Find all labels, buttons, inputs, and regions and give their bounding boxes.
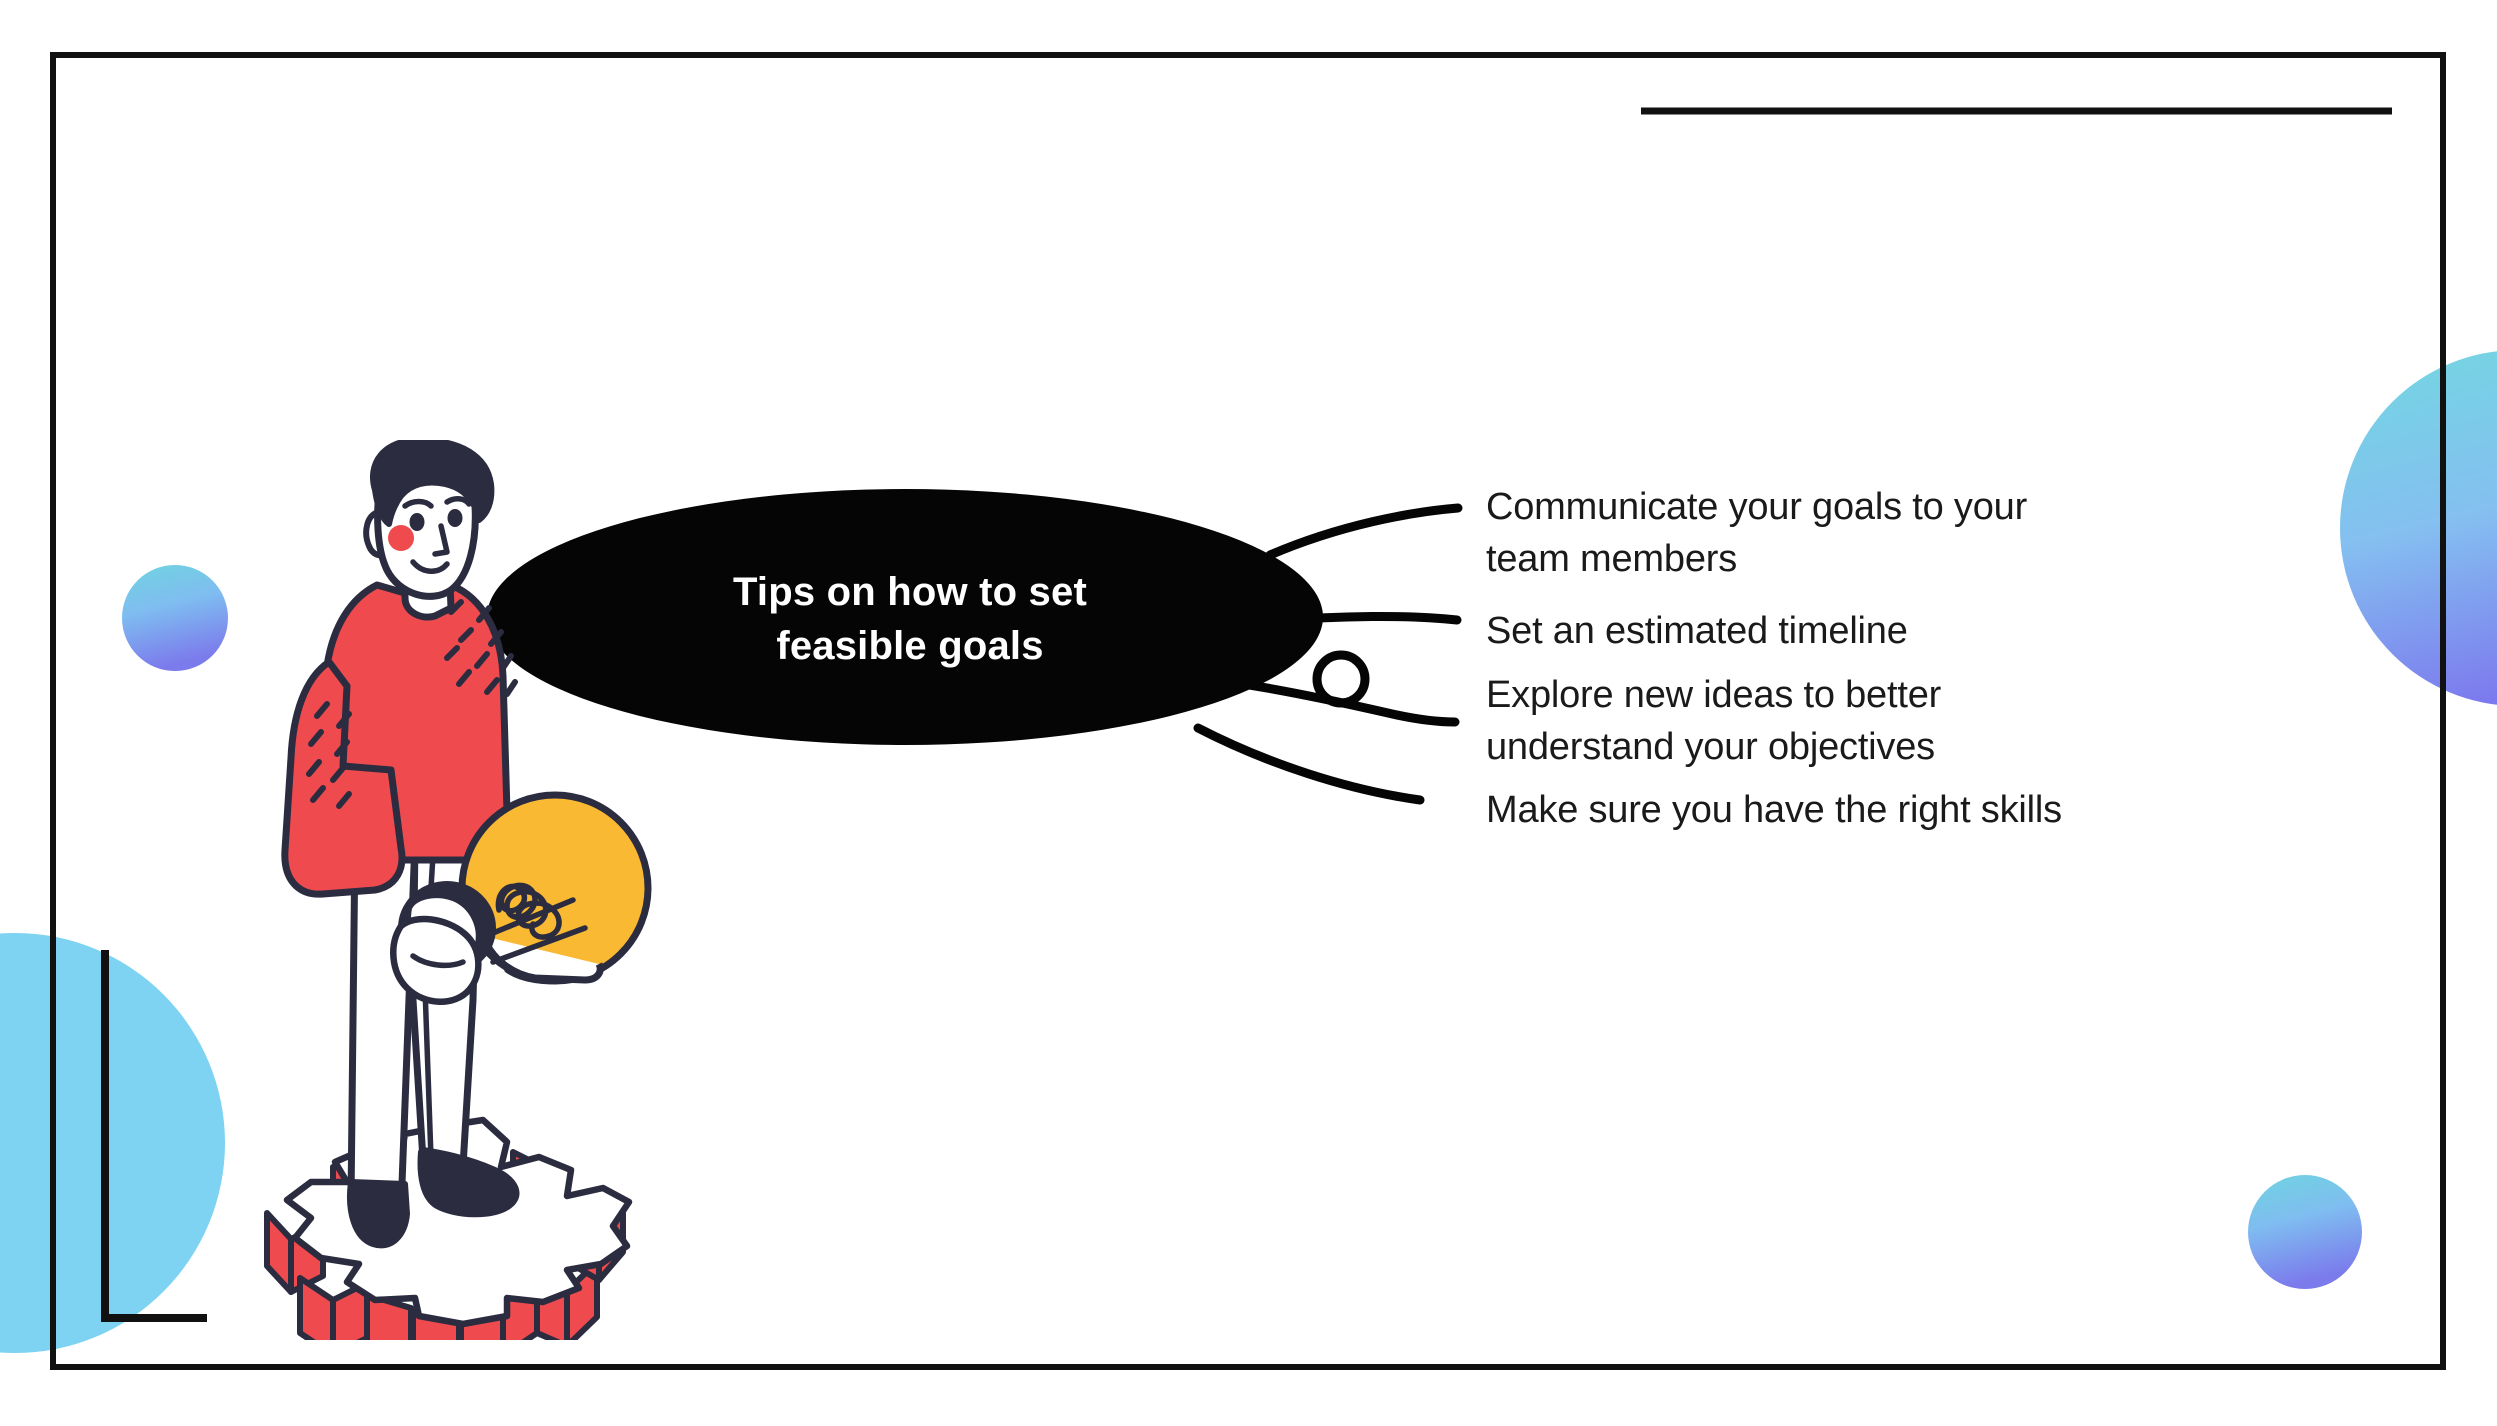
connector-line-4 xyxy=(1198,728,1420,800)
bullet-item-1: Communicate your goals to your team memb… xyxy=(1486,482,2086,585)
connector-line-1 xyxy=(1270,508,1458,555)
connector-decorative-loop xyxy=(1317,655,1365,703)
bullet-item-3: Explore new ideas to better understand y… xyxy=(1486,670,2086,773)
lightbulb-icon xyxy=(462,795,648,982)
bullet-item-2: Set an estimated timeline xyxy=(1486,606,2186,658)
head xyxy=(366,440,491,596)
bullet-item-4: Make sure you have the right skills xyxy=(1486,785,2266,837)
hands xyxy=(393,884,493,1002)
cheek-blush xyxy=(388,525,414,551)
man-holding-lightbulb-illustration xyxy=(255,440,675,1340)
slide-canvas: Tips on how to set feasible goals Commun… xyxy=(0,0,2497,1426)
